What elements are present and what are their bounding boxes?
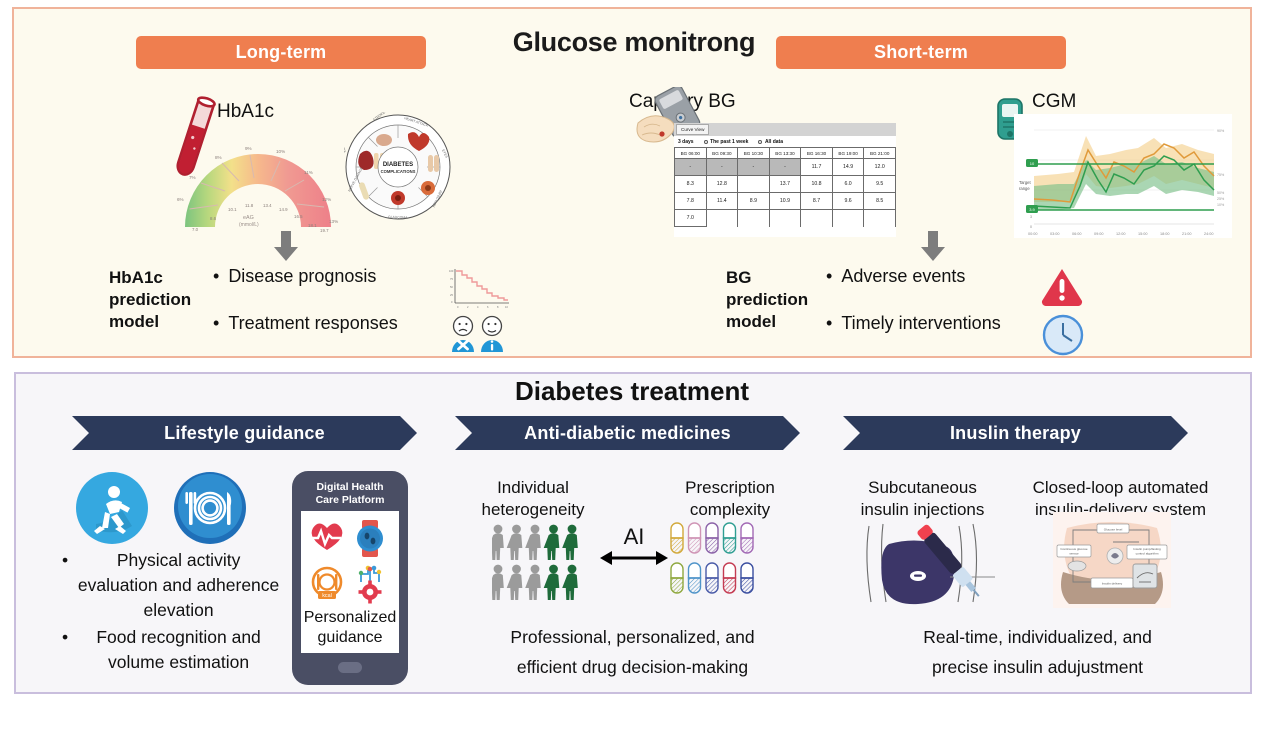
note-line-2: insulin injections	[845, 499, 1000, 521]
pill-capsule	[671, 523, 683, 553]
cgm-low-limit: 3.9	[1029, 207, 1035, 212]
glucose-monitoring-panel: Glucose monitrong Long-term Short-term H…	[12, 7, 1252, 358]
cgm-high-limit: 10	[1030, 161, 1035, 166]
radio-label: All data	[765, 139, 783, 145]
pill-capsule	[741, 523, 753, 553]
table-row: 7.811.48.910.98.79.68.5	[675, 193, 896, 210]
svg-text:0: 0	[451, 300, 453, 304]
person-figure	[544, 565, 560, 600]
medicines-caption: Professional, personalized, and efficien…	[460, 622, 805, 682]
table-cell	[738, 176, 770, 193]
list-item: • Adverse events	[826, 266, 1076, 287]
radio-past-week[interactable]: The past 1 week	[704, 139, 749, 145]
svg-text:Glucose level: Glucose level	[1104, 528, 1123, 532]
svg-text:control algorithm: control algorithm	[1136, 552, 1159, 556]
person-figure	[562, 525, 578, 560]
svg-text:GLAUCOMA: GLAUCOMA	[388, 215, 408, 220]
table-row: ----11.714.912.0	[675, 159, 896, 176]
lifestyle-bullet-1: Physical activity evaluation and adheren…	[75, 548, 282, 623]
table-cell: 14.9	[832, 159, 864, 176]
table-cell	[738, 210, 770, 227]
svg-text:sensor: sensor	[1069, 552, 1078, 556]
person-figure	[507, 565, 523, 600]
svg-text:21:00: 21:00	[1182, 232, 1192, 236]
person-figure	[525, 565, 541, 600]
radio-3-days[interactable]: 3 days	[678, 139, 694, 145]
svg-text:25%: 25%	[1217, 197, 1225, 201]
table-column-header-6: BG 21:00	[864, 148, 896, 159]
svg-text:KIDNEY: KIDNEY	[344, 139, 347, 153]
prescription-complexity-note: Prescription complexity	[665, 477, 795, 521]
pill-capsule	[671, 563, 683, 593]
note-line-1: Prescription	[665, 477, 795, 499]
radio-label: 3 days	[678, 139, 694, 145]
svg-text:7%: 7%	[189, 175, 196, 180]
table-tab-bar[interactable]: Curve View	[674, 123, 896, 136]
svg-text:25: 25	[450, 293, 453, 297]
kcal-label: kcal	[322, 593, 332, 599]
svg-text:00:00: 00:00	[1028, 232, 1038, 236]
cgm-x-axis-ticks: 00:0003:00 06:0009:00 12:0015:00 18:0021…	[1028, 232, 1214, 236]
svg-text:3: 3	[1030, 215, 1032, 219]
table-column-header-4: BG 16:30	[801, 148, 833, 159]
down-arrow-left-icon	[273, 231, 299, 266]
table-cell: 8.3	[675, 176, 707, 193]
svg-text:11.8: 11.8	[245, 203, 254, 208]
list-item: • Treatment responses	[213, 313, 443, 334]
table-cell	[769, 210, 801, 227]
person-figure	[544, 525, 560, 560]
svg-text:10: 10	[505, 305, 508, 309]
note-line-2: heterogeneity	[468, 499, 598, 521]
pill-capsule	[724, 523, 736, 553]
tab-curve-view[interactable]: Curve View	[676, 124, 709, 135]
medication-pills-pictogram	[670, 522, 762, 607]
svg-text:19.7: 19.7	[320, 228, 329, 233]
bg-prediction-model-label: BG prediction model	[726, 267, 836, 333]
outcome-label: Timely interventions	[841, 313, 1000, 334]
outcome-label: Adverse events	[841, 266, 965, 287]
cgm-ambulatory-glucose-profile-chart: 10 3.9 Target range 3 0 00:0003:00 06:00…	[1014, 114, 1232, 243]
svg-text:18.1: 18.1	[308, 223, 317, 228]
alert-triangle-icon	[1040, 267, 1084, 312]
svg-text:13.4: 13.4	[263, 203, 272, 208]
svg-text:18:00: 18:00	[1160, 232, 1170, 236]
bullet-dot: •	[62, 548, 68, 623]
svg-text:90%: 90%	[1217, 129, 1225, 133]
outcome-label: Treatment responses	[228, 313, 397, 334]
caption-line-1: Real-time, individualized, and	[860, 622, 1215, 652]
svg-text:7.0: 7.0	[192, 227, 199, 232]
table-cell: 12.8	[706, 176, 738, 193]
ribbon-long-term: Long-term	[136, 36, 426, 69]
table-cell: 8.9	[738, 193, 770, 210]
insulin-pen-injection-illustration	[855, 520, 1005, 613]
table-cell: 11.4	[706, 193, 738, 210]
digital-health-phone-mockup: Digital Health Care Platform	[291, 470, 409, 691]
table-cell: 9.6	[832, 193, 864, 210]
table-cell: 12.0	[864, 159, 896, 176]
hba1c-label: HbA1c	[217, 101, 274, 123]
diabetes-complications-wheel: DIABETES COMPLICATIONS STROKE HEART ATTA…	[344, 112, 452, 227]
pill-capsule	[689, 563, 701, 593]
table-cell: 8.7	[801, 193, 833, 210]
svg-text:13%: 13%	[329, 219, 338, 224]
table-column-header-3: BG 13:30	[769, 148, 801, 159]
note-line-1: Individual	[468, 477, 598, 499]
svg-text:Continuous glucose: Continuous glucose	[1060, 547, 1087, 551]
hba1c-prediction-model-label: HbA1c prediction model	[109, 267, 219, 333]
table-cell: -	[738, 159, 770, 176]
svg-text:10%: 10%	[276, 149, 285, 154]
table-cell: 7.8	[675, 193, 707, 210]
caption-line-2: efficient drug decision-making	[460, 652, 805, 682]
note-line-1: Subcutaneous	[845, 477, 1000, 499]
date-range-radio-group[interactable]: 3 days The past 1 week All data	[674, 136, 896, 147]
table-header-row: BG 06:00BG 09:30BG 10:30BG 13:30BG 16:30…	[675, 148, 896, 159]
person-figure	[492, 525, 504, 560]
survival-curve-icon: 10075 5025 0 02 46 810	[446, 267, 512, 316]
table-cell: -	[769, 159, 801, 176]
bullet-dot: •	[213, 266, 219, 286]
down-arrow-right-icon	[920, 231, 946, 266]
banner-insulin-therapy: Inuslin therapy	[843, 416, 1188, 450]
person-figure	[492, 565, 504, 600]
svg-text:(mmol/L): (mmol/L)	[239, 222, 259, 228]
svg-text:2: 2	[467, 305, 469, 309]
closed-loop-system-illustration: Glucose level Continuous glucose sensor …	[1053, 512, 1171, 613]
table-column-header-1: BG 09:30	[706, 148, 738, 159]
svg-text:9%: 9%	[245, 146, 252, 151]
pill-capsule	[724, 563, 736, 593]
table-cell: 7.0	[675, 210, 707, 227]
wheel-center-line1: DIABETES	[383, 162, 413, 168]
svg-text:06:00: 06:00	[1072, 232, 1082, 236]
sad-face-x-icon	[452, 317, 474, 353]
svg-text:6: 6	[487, 305, 489, 309]
plate-cutlery-icon	[172, 470, 248, 551]
svg-text:Insulin delivery: Insulin delivery	[1102, 582, 1123, 586]
bullet-dot: •	[826, 266, 832, 286]
list-item: • Food recognition and volume estimation	[62, 625, 282, 675]
patient-population-pictogram	[492, 524, 588, 607]
phone-footer-line1: Personalized	[304, 609, 397, 626]
radio-circle-icon	[704, 140, 708, 144]
treatment-response-faces	[448, 314, 514, 359]
bullet-dot: •	[62, 625, 68, 675]
person-figure	[562, 565, 578, 600]
phone-header-line2: Care Platform	[316, 494, 385, 506]
svg-text:50%: 50%	[1217, 191, 1225, 195]
note-line-2: complexity	[665, 499, 795, 521]
table-body: ----11.714.912.08.312.813.710.86.09.57.8…	[675, 159, 896, 227]
table-column-header-5: BG 19:00	[832, 148, 864, 159]
table-cell: 13.7	[769, 176, 801, 193]
section-title: Diabetes treatment	[0, 376, 1264, 407]
list-item: • Timely interventions	[826, 313, 1076, 334]
right-outcomes-list: • Adverse events • Timely interventions	[826, 266, 1076, 360]
phone-footer-line2: guidance	[318, 629, 383, 646]
svg-text:15:00: 15:00	[1138, 232, 1148, 236]
radio-label: The past 1 week	[710, 139, 748, 145]
pill-capsule	[706, 563, 718, 593]
cgm-target-line2: range	[1019, 186, 1030, 191]
svg-text:24:00: 24:00	[1204, 232, 1214, 236]
table-cell: 11.7	[801, 159, 833, 176]
svg-text:16.5: 16.5	[294, 214, 303, 219]
lifestyle-bullets: • Physical activity evaluation and adher…	[62, 548, 282, 675]
table-cell: 10.8	[801, 176, 833, 193]
svg-text:50: 50	[450, 285, 453, 289]
table-cell	[864, 210, 896, 227]
insulin-caption: Real-time, individualized, and precise i…	[860, 622, 1215, 682]
note-line-1: Closed-loop automated	[1018, 477, 1223, 499]
svg-text:75%: 75%	[1217, 173, 1225, 177]
neutral-face-info-icon	[481, 317, 503, 353]
list-item: • Physical activity evaluation and adher…	[62, 548, 282, 623]
table-cell: -	[675, 159, 707, 176]
svg-text:11%: 11%	[304, 170, 313, 175]
svg-text:12%: 12%	[322, 197, 331, 202]
svg-text:eAG: eAG	[243, 215, 254, 221]
caption-line-2: precise insulin adujustment	[860, 652, 1215, 682]
ribbon-short-term: Short-term	[776, 36, 1066, 69]
svg-text:12:00: 12:00	[1116, 232, 1126, 236]
table-row: 8.312.813.710.86.09.5	[675, 176, 896, 193]
table-cell: 8.5	[864, 193, 896, 210]
svg-text:03:00: 03:00	[1050, 232, 1060, 236]
phone-header-line1: Digital Health	[316, 481, 383, 493]
svg-text:6%: 6%	[177, 197, 184, 202]
person-figure	[525, 525, 541, 560]
svg-text:8: 8	[497, 305, 499, 309]
table-cell: 9.5	[864, 176, 896, 193]
svg-text:8.6: 8.6	[210, 216, 217, 221]
table-cell	[801, 210, 833, 227]
svg-text:10.1: 10.1	[228, 207, 237, 212]
table-column-header-2: BG 10:30	[738, 148, 770, 159]
capillary-bg-table-window[interactable]: Curve View 3 days The past 1 week All da…	[674, 123, 896, 237]
svg-text:09:00: 09:00	[1094, 232, 1104, 236]
svg-text:0: 0	[457, 305, 459, 309]
table-cell	[832, 210, 864, 227]
individual-heterogeneity-note: Individual heterogeneity	[468, 477, 598, 521]
table-column-header-0: BG 06:00	[675, 148, 707, 159]
running-person-icon	[74, 470, 150, 551]
wheel-center-line2: COMPLICATIONS	[381, 169, 416, 174]
left-outcomes-list: • Disease prognosis • Treatment response…	[213, 266, 443, 360]
bullet-dot: •	[213, 313, 219, 333]
person-figure	[507, 525, 523, 560]
table-cell: 10.9	[769, 193, 801, 210]
hba1c-eag-gauge: 6% 7% 8% 9% 10% 11% 12% 13% 7.0 8.6 10.1…	[177, 131, 339, 238]
caption-line-1: Professional, personalized, and	[460, 622, 805, 652]
radio-circle-icon	[758, 140, 762, 144]
list-item: • Disease prognosis	[213, 266, 443, 287]
banner-anti-diabetic-medicines: Anti-diabetic medicines	[455, 416, 800, 450]
svg-text:0: 0	[1030, 225, 1032, 229]
banner-lifestyle-guidance: Lifestyle guidance	[72, 416, 417, 450]
pill-capsule	[706, 523, 718, 553]
svg-text:75: 75	[450, 277, 453, 281]
table-cell: -	[706, 159, 738, 176]
pill-capsule	[741, 563, 753, 593]
svg-text:8%: 8%	[215, 155, 222, 160]
clock-icon	[1042, 314, 1084, 361]
radio-all-data[interactable]: All data	[758, 139, 783, 145]
table-row: 7.0	[675, 210, 896, 227]
subcutaneous-injection-note: Subcutaneous insulin injections	[845, 477, 1000, 521]
ai-bidirectional-arrow: AI	[598, 520, 670, 581]
outcome-label: Disease prognosis	[228, 266, 376, 287]
svg-text:10%: 10%	[1217, 203, 1225, 207]
bullet-dot: •	[826, 313, 832, 333]
figure-canvas: Glucose monitrong Long-term Short-term H…	[0, 0, 1264, 735]
table-cell	[706, 210, 738, 227]
lifestyle-bullet-2: Food recognition and volume estimation	[75, 625, 282, 675]
svg-text:4: 4	[477, 305, 479, 309]
svg-text:100: 100	[449, 269, 454, 273]
bg-readings-table: BG 06:00BG 09:30BG 10:30BG 13:30BG 16:30…	[674, 147, 896, 227]
table-cell: 6.0	[832, 176, 864, 193]
svg-text:14.9: 14.9	[279, 207, 288, 212]
pill-capsule	[689, 523, 701, 553]
ai-label: AI	[624, 524, 645, 549]
svg-text:Insulin pump/fasting: Insulin pump/fasting	[1133, 547, 1161, 551]
cgm-target-line1: Target	[1019, 180, 1031, 185]
